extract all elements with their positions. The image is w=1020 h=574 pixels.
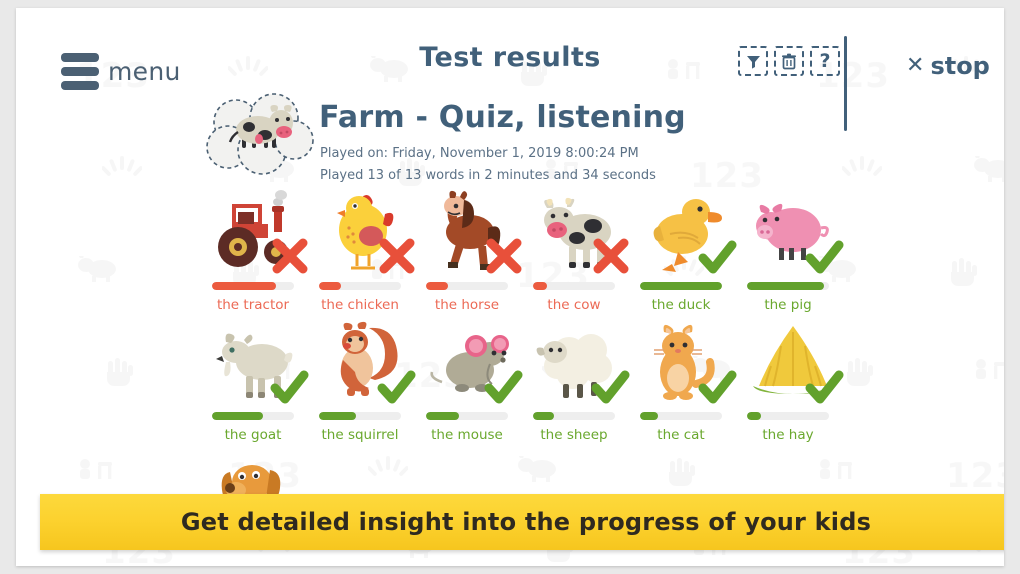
score-bar-fill: [747, 282, 824, 290]
watermark-toy: [816, 456, 856, 486]
result-item[interactable]: the hay: [747, 320, 853, 450]
score-bar: [533, 282, 615, 290]
check-icon: [696, 366, 738, 408]
result-label: the cat: [633, 427, 729, 443]
promo-banner[interactable]: Get detailed insight into the progress o…: [40, 494, 1004, 550]
squirrel-icon: [319, 320, 411, 406]
watermark-toy: [972, 356, 1004, 386]
quiz-title: Farm - Quiz, listening: [319, 100, 686, 135]
watermark-sun: [842, 156, 882, 186]
watermark-123: 123: [946, 456, 1004, 496]
score-bar-fill: [640, 412, 658, 420]
played-summary-text: Played 13 of 13 words in 2 minutes and 3…: [320, 168, 656, 183]
check-icon: [696, 236, 738, 278]
score-bar-fill: [426, 412, 459, 420]
score-bar-fill: [533, 282, 547, 290]
watermark-hand: [946, 256, 980, 290]
result-label: the mouse: [419, 427, 515, 443]
result-label: the cow: [526, 297, 622, 313]
cow-cloud-avatar: [202, 92, 318, 178]
score-bar: [747, 412, 829, 420]
goat-icon: [212, 320, 304, 406]
watermark-sun: [102, 156, 142, 186]
check-icon: [482, 366, 524, 408]
stop-label: stop: [930, 52, 989, 80]
check-icon: [803, 236, 845, 278]
score-bar: [533, 412, 615, 420]
hay-icon: [747, 320, 839, 406]
result-item[interactable]: the duck: [640, 190, 746, 320]
delete-button[interactable]: [774, 46, 804, 76]
score-bar-fill: [212, 412, 263, 420]
played-on-text: Played on: Friday, November 1, 2019 8:00…: [320, 146, 639, 161]
result-label: the tractor: [205, 297, 301, 313]
result-item[interactable]: the mouse: [426, 320, 532, 450]
result-label: the duck: [633, 297, 729, 313]
page-title: Test results: [16, 42, 1004, 73]
score-bar-fill: [747, 412, 761, 420]
score-bar-fill: [319, 282, 341, 290]
cross-icon: [375, 236, 417, 278]
funnel-icon: [745, 53, 762, 70]
result-label: the squirrel: [312, 427, 408, 443]
check-icon: [803, 366, 845, 408]
check-icon: [375, 366, 417, 408]
question-mark-icon: ?: [819, 52, 830, 71]
watermark-cow: [972, 156, 1004, 186]
result-item[interactable]: the chicken: [319, 190, 425, 320]
cat-icon: [640, 320, 732, 406]
result-item[interactable]: the horse: [426, 190, 532, 320]
filter-button[interactable]: [738, 46, 768, 76]
sheep-icon: [533, 320, 625, 406]
watermark-sun: [368, 456, 408, 486]
score-bar: [212, 412, 294, 420]
result-item[interactable]: the pig: [747, 190, 853, 320]
result-label: the hay: [740, 427, 836, 443]
result-item[interactable]: the tractor: [212, 190, 318, 320]
toolbar-actions: ?: [738, 46, 840, 76]
result-label: the goat: [205, 427, 301, 443]
score-bar: [426, 282, 508, 290]
result-label: the sheep: [526, 427, 622, 443]
score-bar: [212, 282, 294, 290]
watermark-toy: [76, 456, 116, 486]
score-bar-fill: [533, 412, 554, 420]
app-card: 123123123123123123123123123 menu Test re…: [16, 8, 1004, 566]
toolbar-divider: [844, 36, 847, 131]
score-bar: [640, 282, 722, 290]
watermark-cow: [76, 256, 120, 286]
result-label: the chicken: [312, 297, 408, 313]
result-item[interactable]: the cat: [640, 320, 746, 450]
watermark-cow: [516, 456, 560, 486]
app-stage: 123123123123123123123123123 menu Test re…: [0, 0, 1020, 574]
duck-icon: [640, 190, 732, 276]
help-button[interactable]: ?: [810, 46, 840, 76]
score-bar: [640, 412, 722, 420]
watermark-hand: [102, 356, 136, 390]
result-item[interactable]: the squirrel: [319, 320, 425, 450]
score-bar-fill: [212, 282, 276, 290]
check-icon: [268, 366, 310, 408]
pig-icon: [747, 190, 839, 276]
chicken-icon: [319, 190, 411, 276]
cross-icon: [268, 236, 310, 278]
result-item[interactable]: the sheep: [533, 320, 639, 450]
score-bar: [747, 282, 829, 290]
result-label: the pig: [740, 297, 836, 313]
result-item[interactable]: the goat: [212, 320, 318, 450]
score-bar: [319, 412, 401, 420]
score-bar-fill: [640, 282, 722, 290]
cross-icon: [589, 236, 631, 278]
score-bar-fill: [319, 412, 356, 420]
check-icon: [589, 366, 631, 408]
mouse-icon: [426, 320, 518, 406]
promo-banner-text: Get detailed insight into the progress o…: [181, 508, 871, 536]
score-bar: [319, 282, 401, 290]
stop-button[interactable]: ✕ stop: [906, 52, 990, 80]
close-x-icon: ✕: [906, 55, 924, 77]
score-bar: [426, 412, 508, 420]
horse-icon: [426, 190, 518, 276]
result-label: the horse: [419, 297, 515, 313]
tractor-icon: [212, 190, 304, 276]
result-item[interactable]: the cow: [533, 190, 639, 320]
score-bar-fill: [426, 282, 448, 290]
cross-icon: [482, 236, 524, 278]
trash-icon: [781, 53, 797, 70]
watermark-hand: [664, 456, 698, 490]
cow-icon: [533, 190, 625, 276]
